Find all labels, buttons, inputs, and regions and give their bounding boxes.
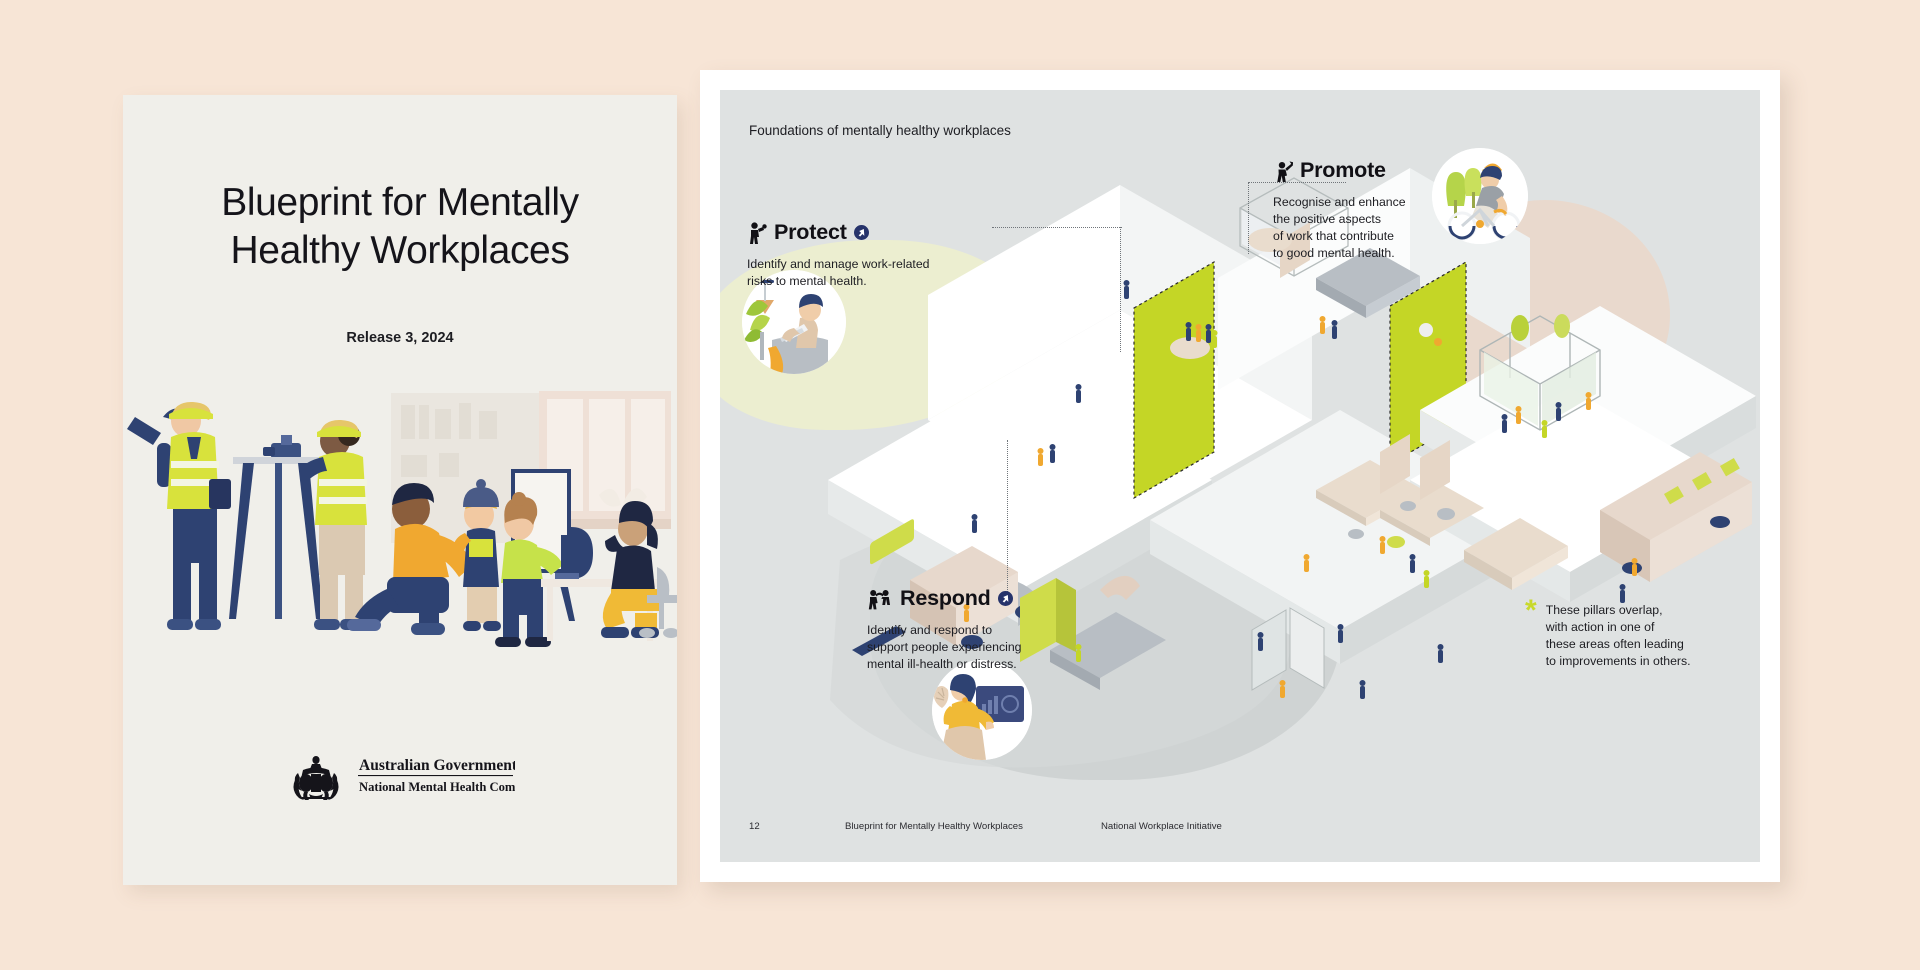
australian-government-logo: Australian Government National Mental He…: [123, 750, 677, 807]
cyclist-bubble: [1432, 148, 1528, 244]
presenter-art: [932, 660, 1032, 760]
pillar-callout-respond: Respond Identify and respond to support …: [867, 586, 1022, 673]
protect-connector-v: [1120, 227, 1121, 352]
cover-page: Blueprint for Mentally Healthy Workplace…: [123, 95, 677, 885]
release-label: Release 3, 2024: [123, 330, 677, 346]
respond-body-line-3: mental ill-health or distress.: [867, 656, 1022, 673]
logo-lockup: Australian Government National Mental He…: [285, 750, 515, 802]
protect-body-line-1: Identify and manage work-related: [747, 256, 930, 273]
pillar-body-protect: Identify and manage work-related risks t…: [747, 256, 930, 290]
promote-body-line-4: to good mental health.: [1273, 245, 1406, 262]
pillar-body-promote: Recognise and enhance the positive aspec…: [1273, 194, 1406, 261]
respond-connector-v: [1007, 440, 1008, 598]
promote-heading-row: Promote: [1273, 158, 1406, 183]
presenter-bubble: [932, 660, 1032, 760]
page-title-line-2: Healthy Workplaces: [123, 227, 677, 275]
asterisk-icon: *: [1525, 602, 1537, 670]
pillar-title-respond: Respond: [900, 586, 991, 611]
promote-body-line-1: Recognise and enhance: [1273, 194, 1406, 211]
two-people-support-icon: [867, 588, 893, 610]
respond-body-line-2: support people experiencing: [867, 639, 1022, 656]
overlap-line-3: these areas often leading: [1546, 636, 1691, 653]
person-raising-arm-icon: [1273, 160, 1293, 182]
figure-surveyor-camera: [229, 420, 367, 630]
page-title-line-1: Blueprint for Mentally: [123, 179, 677, 227]
respond-body-line-1: Identify and respond to: [867, 622, 1022, 639]
protect-body-line-2: risks to mental health.: [747, 273, 930, 290]
logo-line-2: National Mental Health Commission: [359, 780, 515, 794]
australian-coat-of-arms-icon: [294, 756, 339, 800]
slide-frame: Foundations of mentally healthy workplac…: [700, 70, 1780, 882]
overlap-note-text: These pillars overlap, with action in on…: [1546, 602, 1691, 670]
pillar-title-protect: Protect: [774, 220, 847, 245]
screenshot-stage: Blueprint for Mentally Healthy Workplace…: [0, 0, 1920, 970]
magnifier-zoom-icon[interactable]: [998, 591, 1013, 606]
cyclist-art: [1432, 148, 1528, 244]
footer-document-title: Blueprint for Mentally Healthy Workplace…: [845, 821, 1023, 832]
workplace-people-illustration: [123, 383, 677, 673]
protect-connector-h: [992, 227, 1122, 228]
footer-initiative: National Workplace Initiative: [1101, 821, 1222, 832]
magnifier-zoom-icon[interactable]: [854, 225, 869, 240]
slide-canvas: Foundations of mentally healthy workplac…: [720, 90, 1760, 862]
page-title: Blueprint for Mentally Healthy Workplace…: [123, 179, 677, 274]
figure-surveyor-pointing: [127, 402, 231, 630]
logo-line-1: Australian Government: [359, 757, 515, 774]
overlap-line-4: to improvements in others.: [1546, 653, 1691, 670]
isometric-workplaces-diagram: [720, 90, 1760, 862]
slide-footer: 12 Blueprint for Mentally Healthy Workpl…: [749, 821, 1729, 835]
footer-page-number: 12: [749, 821, 760, 832]
pillar-title-promote: Promote: [1300, 158, 1386, 183]
overlap-note: * These pillars overlap, with action in …: [1525, 602, 1725, 670]
person-shield-icon: [747, 222, 767, 244]
protect-heading-row: Protect: [747, 220, 930, 245]
overlap-line-1: These pillars overlap,: [1546, 602, 1691, 619]
promote-body-line-3: of work that contribute: [1273, 228, 1406, 245]
promote-body-line-2: the positive aspects: [1273, 211, 1406, 228]
pillar-callout-promote: Promote Recognise and enhance the positi…: [1273, 158, 1406, 261]
promote-connector-v: [1248, 182, 1249, 254]
pillar-callout-protect: Protect Identify and manage work-related…: [747, 220, 930, 290]
pillar-body-respond: Identify and respond to support people e…: [867, 622, 1022, 673]
respond-heading-row: Respond: [867, 586, 1022, 611]
overlap-line-2: with action in one of: [1546, 619, 1691, 636]
